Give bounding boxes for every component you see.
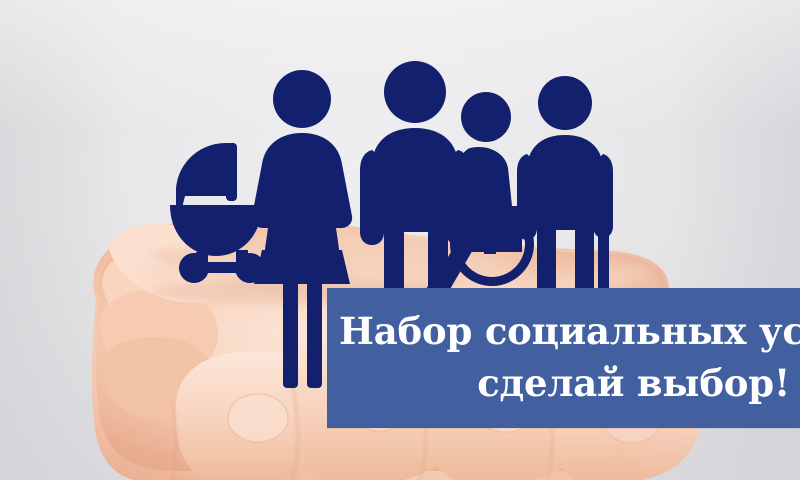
caption-banner: Набор социальных услуг - сделай выбор! (327, 288, 800, 428)
pram-icon (170, 143, 265, 283)
caption-line-1: Набор социальных услуг - (339, 305, 790, 357)
caption-line-2: сделай выбор! (339, 357, 790, 409)
poster-canvas: Набор социальных услуг - сделай выбор! (0, 0, 800, 480)
caption-text-block: Набор социальных услуг - сделай выбор! (339, 298, 790, 416)
